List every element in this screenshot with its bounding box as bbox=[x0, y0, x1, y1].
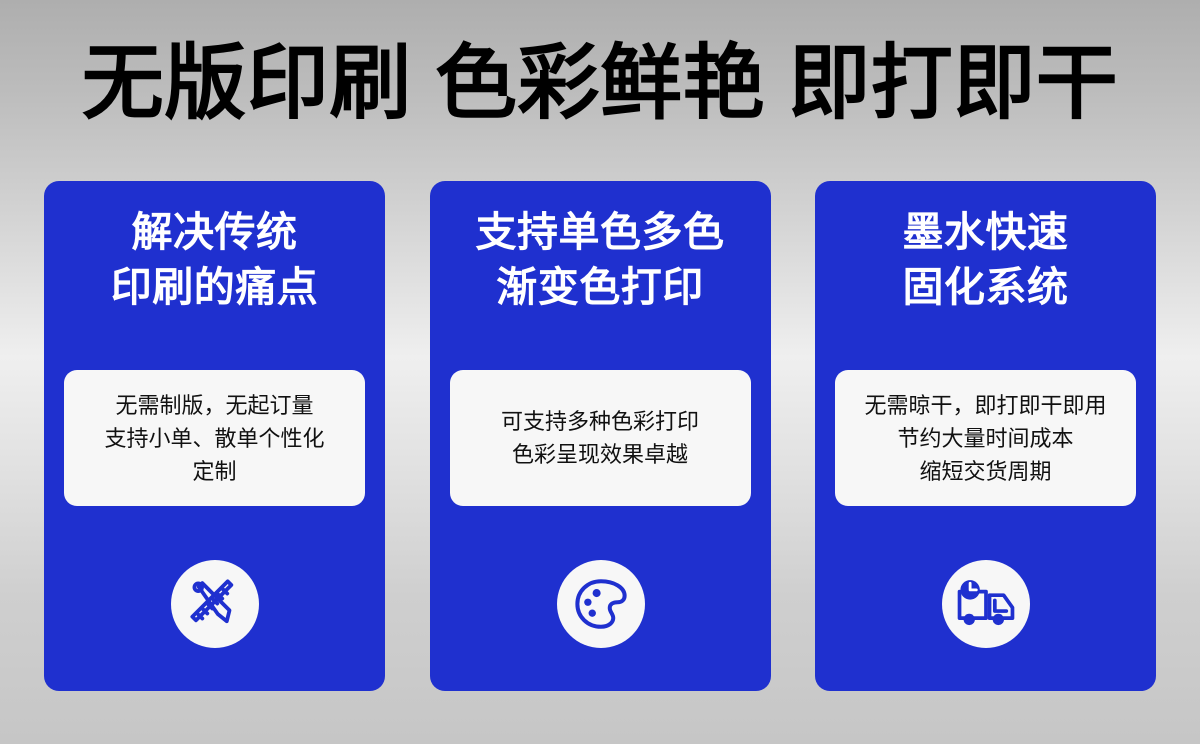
feature-card-2-body: 可支持多种色彩打印 色彩呈现效果卓越 bbox=[450, 370, 751, 506]
feature-card-1-body: 无需制版，无起订量 支持小单、散单个性化 定制 bbox=[64, 370, 365, 506]
page-title: 无版印刷 色彩鲜艳 即打即干 bbox=[0, 36, 1200, 132]
feature-card-2-icon-badge bbox=[557, 560, 645, 648]
feature-card-1-heading: 解决传统 印刷的痛点 bbox=[44, 205, 385, 315]
paint-palette-icon bbox=[573, 576, 629, 632]
feature-card-3-icon-badge bbox=[942, 560, 1030, 648]
feature-card-2-body-line-2: 色彩呈现效果卓越 bbox=[512, 438, 688, 471]
feature-card-2-body-line-1: 可支持多种色彩打印 bbox=[501, 405, 699, 438]
feature-card-1-body-line-3: 定制 bbox=[192, 455, 236, 488]
feature-card-3-heading-line-2: 固化系统 bbox=[815, 260, 1156, 315]
delivery-truck-clock-icon bbox=[956, 575, 1016, 633]
feature-card-1-body-line-2: 支持小单、散单个性化 bbox=[104, 422, 324, 455]
feature-card-3-body-line-1: 无需晾干，即打即干即用 bbox=[864, 389, 1106, 422]
feature-card-3-body-line-2: 节约大量时间成本 bbox=[897, 422, 1073, 455]
feature-card-2-heading-line-1: 支持单色多色 bbox=[430, 205, 771, 260]
feature-card-3-body: 无需晾干，即打即干即用 节约大量时间成本 缩短交货周期 bbox=[835, 370, 1136, 506]
feature-card-3-heading: 墨水快速 固化系统 bbox=[815, 205, 1156, 315]
feature-card-2[interactable]: 支持单色多色 渐变色打印 可支持多种色彩打印 色彩呈现效果卓越 bbox=[430, 181, 771, 691]
feature-card-1-heading-line-1: 解决传统 bbox=[44, 205, 385, 260]
feature-card-2-heading: 支持单色多色 渐变色打印 bbox=[430, 205, 771, 315]
feature-card-1-heading-line-2: 印刷的痛点 bbox=[44, 260, 385, 315]
feature-card-1[interactable]: 解决传统 印刷的痛点 无需制版，无起订量 支持小单、散单个性化 定制 bbox=[44, 181, 385, 691]
ruler-pencil-icon bbox=[186, 575, 244, 633]
feature-cards-row: 解决传统 印刷的痛点 无需制版，无起订量 支持小单、散单个性化 定制 bbox=[44, 181, 1156, 691]
feature-card-3[interactable]: 墨水快速 固化系统 无需晾干，即打即干即用 节约大量时间成本 缩短交货周期 bbox=[815, 181, 1156, 691]
feature-card-1-icon-badge bbox=[171, 560, 259, 648]
feature-card-1-body-line-1: 无需制版，无起订量 bbox=[115, 389, 313, 422]
feature-card-2-heading-line-2: 渐变色打印 bbox=[430, 260, 771, 315]
feature-card-3-body-line-3: 缩短交货周期 bbox=[919, 455, 1051, 488]
feature-card-3-heading-line-1: 墨水快速 bbox=[815, 205, 1156, 260]
